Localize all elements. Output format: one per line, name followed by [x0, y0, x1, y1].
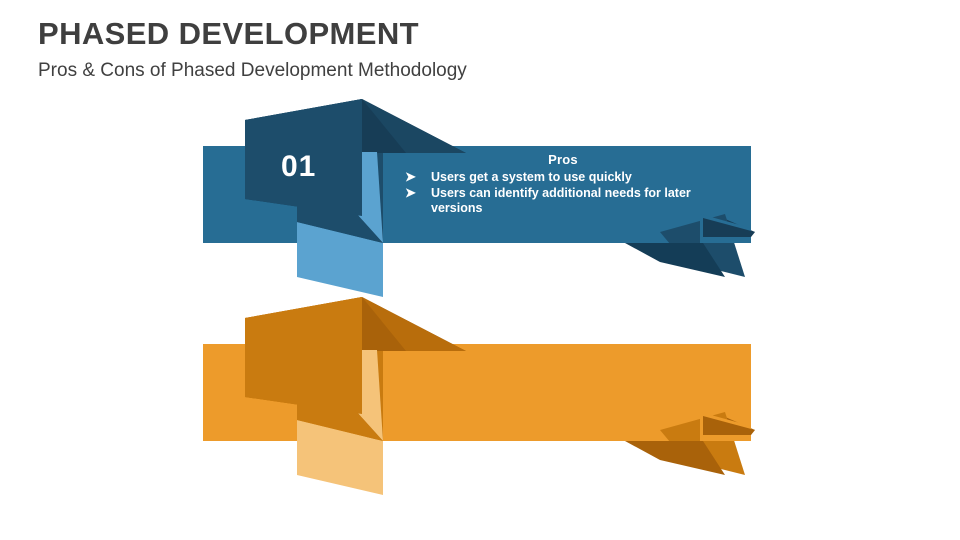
chevron-arrow-bullet-icon: ➤ — [405, 169, 416, 185]
section-heading-pros: Pros — [398, 152, 728, 167]
section-number-01: 01 — [281, 152, 316, 182]
slide-canvas: PHASED DEVELOPMENT Pros & Cons of Phased… — [0, 0, 960, 540]
list-item: ➤ Users get a system to use quickly — [398, 170, 728, 186]
ribbon-graphic-orange — [0, 198, 960, 498]
section-block-02[interactable]: 02 Cons ➤ Users work with a system that … — [0, 198, 960, 498]
bullet-text: Users get a system to use quickly — [431, 170, 632, 184]
